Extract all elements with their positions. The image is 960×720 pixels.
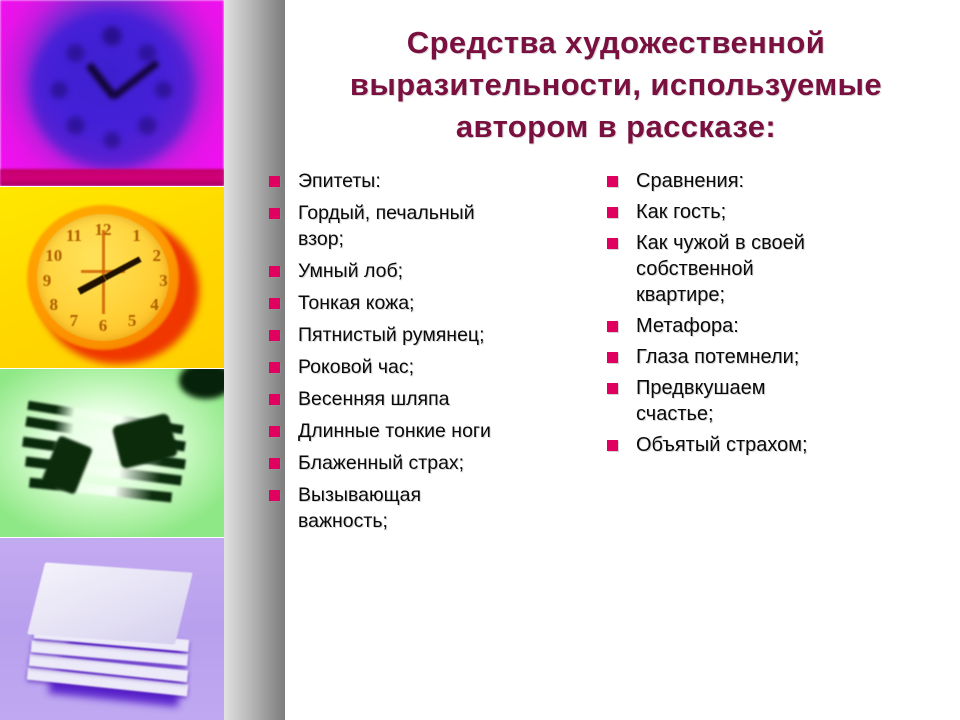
list-item-label: Вызывающая важность; (298, 482, 421, 534)
square-bullet-icon (607, 207, 618, 218)
clock-numeral-5: 5 (128, 311, 137, 331)
slide-title: Средства художественной выразительности,… (286, 22, 946, 148)
list-item[interactable]: Гордый, печальный взор; (266, 200, 584, 252)
list-item-label: Метафора: (636, 313, 739, 339)
list-item-label: Гордый, печальный взор; (298, 200, 475, 252)
list-item[interactable]: Объятый страхом; (604, 432, 944, 458)
bullet-list-left: Эпитеты: Гордый, печальный взор; Умный л… (266, 168, 584, 540)
square-bullet-icon (269, 266, 280, 277)
clock-numeral-6: 6 (99, 316, 108, 336)
list-item[interactable]: Длинные тонкие ноги (266, 418, 584, 444)
list-item-label: Блаженный страх; (298, 450, 464, 476)
list-item-label: Умный лоб; (298, 258, 403, 284)
clock-numeral-3: 3 (159, 271, 168, 291)
square-bullet-icon (269, 362, 280, 373)
list-item[interactable]: Весенняя шляпа (266, 386, 584, 412)
list-item-label: Объятый страхом; (636, 432, 808, 458)
list-item[interactable]: Сравнения: (604, 168, 944, 194)
presentation-slide: 12 1 2 3 4 5 6 7 8 9 10 11 (0, 0, 960, 720)
square-bullet-icon (607, 321, 618, 332)
list-item-label: Длинные тонкие ноги (298, 418, 491, 444)
paper-sheet-1-top (27, 562, 192, 644)
list-item-label: Эпитеты: (298, 168, 381, 194)
square-bullet-icon (269, 394, 280, 405)
list-item[interactable]: Эпитеты: (266, 168, 584, 194)
list-item-label: Сравнения: (636, 168, 744, 194)
square-bullet-icon (269, 426, 280, 437)
list-item[interactable]: Как гость; (604, 199, 944, 225)
list-item[interactable]: Предвкушаем счастье; (604, 375, 944, 427)
list-item-label: Тонкая кожа; (298, 290, 414, 316)
bullet-list-right: Сравнения: Как гость; Как чужой в своей … (604, 168, 944, 463)
image-orange-clock-on-yellow: 12 1 2 3 4 5 6 7 8 9 10 11 (0, 187, 224, 368)
list-item[interactable]: Тонкая кожа; (266, 290, 584, 316)
square-bullet-icon (269, 176, 280, 187)
square-bullet-icon (607, 238, 618, 249)
list-item-label: Весенняя шляпа (298, 386, 450, 412)
list-item-label: Как чужой в своей собственной квартире; (636, 230, 805, 308)
list-item-label: Предвкушаем счастье; (636, 375, 766, 427)
square-bullet-icon (607, 352, 618, 363)
list-item[interactable]: Пятнистый румянец; (266, 322, 584, 348)
list-item[interactable]: Вызывающая важность; (266, 482, 584, 534)
clock-numeral-8: 8 (50, 295, 59, 315)
list-item[interactable]: Глаза потемнели; (604, 344, 944, 370)
square-bullet-icon (607, 176, 618, 187)
list-item[interactable]: Как чужой в своей собственной квартире; (604, 230, 944, 308)
list-item[interactable]: Метафора: (604, 313, 944, 339)
list-item-label: Роковой час; (298, 354, 414, 380)
clock-numeral-7: 7 (70, 311, 79, 331)
square-bullet-icon (607, 383, 618, 394)
square-bullet-icon (269, 490, 280, 501)
clock-numeral-2: 2 (153, 246, 162, 266)
square-bullet-icon (269, 330, 280, 341)
clock-numeral-9: 9 (43, 271, 52, 291)
square-bullet-icon (269, 298, 280, 309)
square-bullet-icon (269, 208, 280, 219)
clock-numeral-4: 4 (150, 295, 159, 315)
square-bullet-icon (269, 458, 280, 469)
list-item[interactable]: Роковой час; (266, 354, 584, 380)
image-open-book-on-green (0, 369, 224, 537)
image-paper-stack-on-violet (0, 538, 224, 720)
clock-numeral-1: 1 (132, 226, 141, 246)
clock-numeral-11: 11 (66, 226, 82, 246)
list-item-label: Как гость; (636, 199, 726, 225)
list-item-label: Пятнистый румянец; (298, 322, 485, 348)
square-bullet-icon (607, 440, 618, 451)
violet-clock-bottom-band (0, 169, 224, 186)
list-item[interactable]: Умный лоб; (266, 258, 584, 284)
clock-numeral-10: 10 (45, 246, 62, 266)
image-blurred-violet-clock (0, 0, 224, 186)
list-item-label: Глаза потемнели; (636, 344, 799, 370)
list-item[interactable]: Блаженный страх; (266, 450, 584, 476)
image-strip: 12 1 2 3 4 5 6 7 8 9 10 11 (0, 0, 224, 720)
